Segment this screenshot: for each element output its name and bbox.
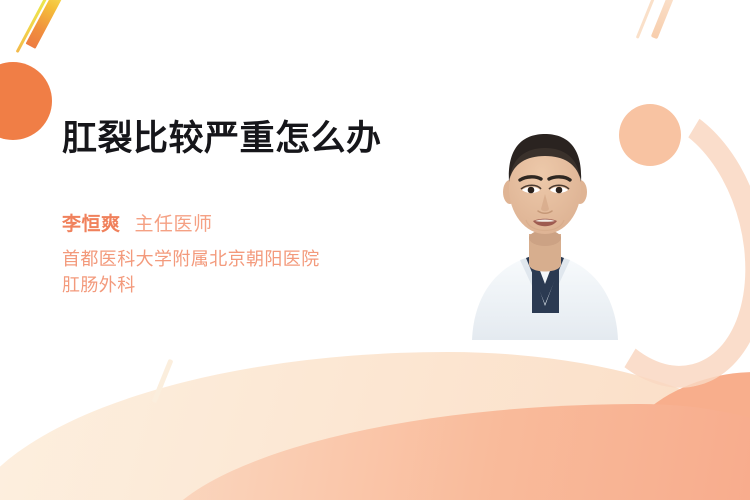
page-title: 肛裂比较严重怎么办 (62, 118, 392, 161)
doctor-affiliation: 首都医科大学附属北京朝阳医院 肛肠外科 (62, 247, 422, 298)
text-content: 肛裂比较严重怎么办 李恒爽 主任医师 首都医科大学附属北京朝阳医院 肛肠外科 (62, 118, 422, 298)
hospital-name: 首都医科大学附属北京朝阳医院 (62, 247, 422, 273)
peach-diagonal-stroke-icon (651, 0, 678, 39)
doctor-portrait (460, 108, 630, 340)
doctor-identity-line: 李恒爽 主任医师 (62, 209, 422, 236)
department-name: 肛肠外科 (62, 273, 422, 299)
video-thumbnail-card: 肛裂比较严重怎么办 李恒爽 主任医师 首都医科大学附属北京朝阳医院 肛肠外科 (0, 0, 750, 500)
cream-diagonal-stroke-icon (152, 359, 174, 404)
orange-diagonal-stroke-icon (26, 0, 66, 49)
peach-bottom-wave (150, 404, 750, 500)
doctor-rank: 主任医师 (135, 209, 213, 236)
cream-bottom-wave (0, 352, 750, 500)
peach-right-wave (600, 372, 750, 500)
yellow-diagonal-stroke-icon (16, 0, 48, 53)
doctor-name: 李恒爽 (62, 209, 121, 236)
peach-thin-stroke-icon (636, 0, 657, 39)
orange-circle-icon (0, 62, 52, 140)
